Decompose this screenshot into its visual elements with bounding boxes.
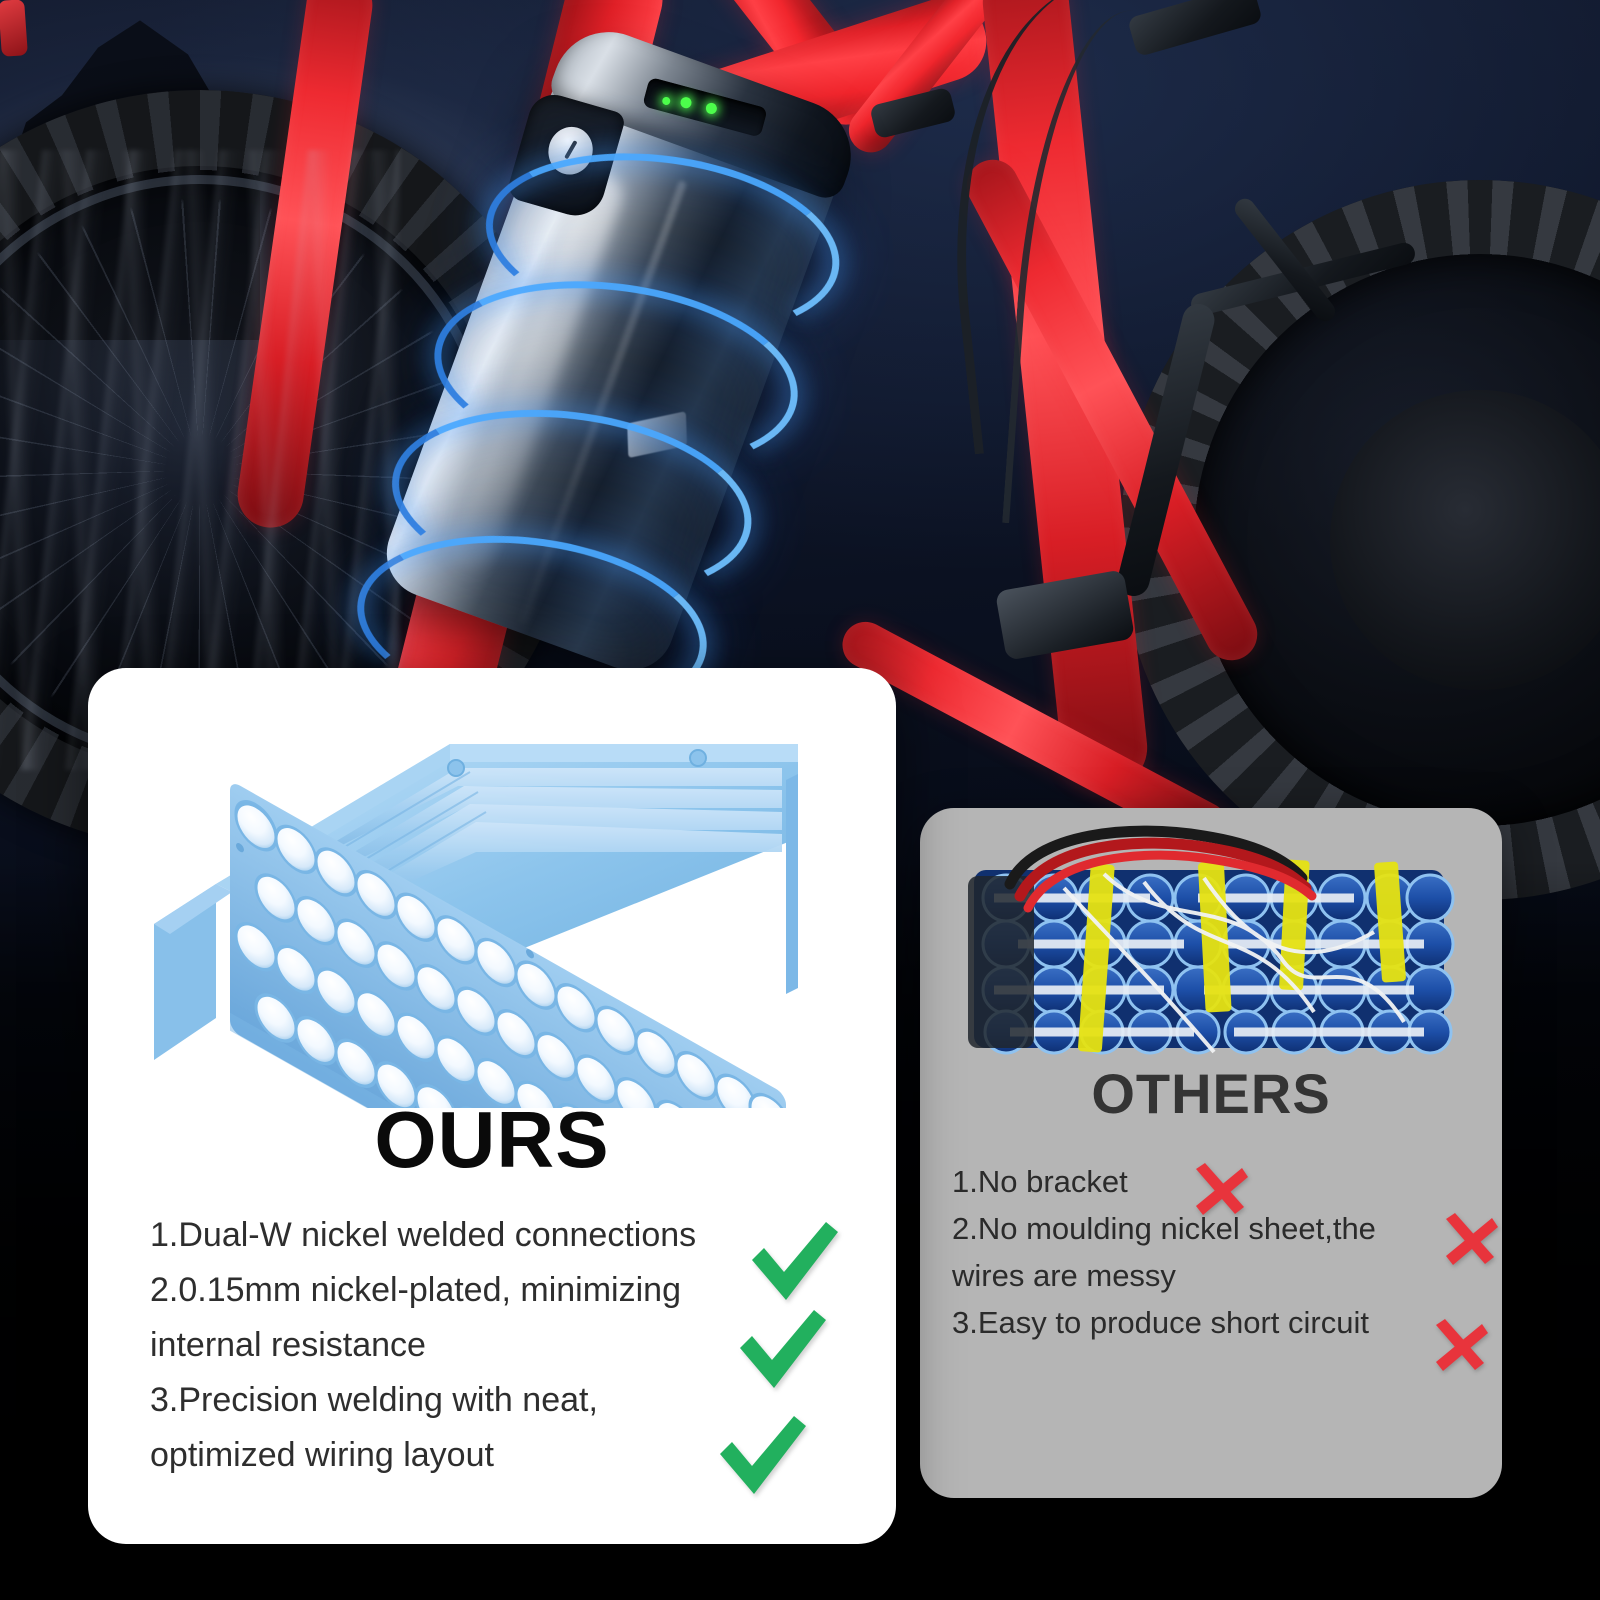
led-indicator-icon xyxy=(705,102,718,115)
check-icon xyxy=(748,1220,840,1304)
led-indicator-icon xyxy=(679,96,692,109)
ours-card: OURS 1.Dual-W nickel welded connections … xyxy=(88,668,896,1544)
others-title: OTHERS xyxy=(920,1066,1502,1122)
cable-guide-clip xyxy=(0,0,28,57)
others-battery-image xyxy=(954,822,1474,1062)
battery-led-slot xyxy=(642,77,768,138)
others-list-item: 3.Easy to produce short circuit xyxy=(952,1299,1452,1346)
check-icon xyxy=(716,1414,808,1498)
ours-list-item: 2.0.15mm nickel-plated, minimizing inter… xyxy=(150,1263,750,1373)
check-icon xyxy=(736,1308,828,1392)
ours-list-item: 1.Dual-W nickel welded connections xyxy=(150,1208,750,1263)
infographic-canvas: OTHERS 1.No bracket 2.No moulding nickel… xyxy=(0,0,1600,1600)
cross-icon xyxy=(1188,1160,1250,1220)
others-card: OTHERS 1.No bracket 2.No moulding nickel… xyxy=(920,808,1502,1498)
ours-battery-image xyxy=(98,688,888,1108)
led-indicator-icon xyxy=(661,96,671,106)
ours-feature-list: 1.Dual-W nickel welded connections 2.0.1… xyxy=(150,1208,750,1483)
cross-icon xyxy=(1438,1210,1500,1270)
cross-icon xyxy=(1428,1316,1490,1376)
ours-list-item: 3.Precision welding with neat, optimized… xyxy=(150,1373,750,1483)
ours-title: OURS xyxy=(88,1100,896,1180)
